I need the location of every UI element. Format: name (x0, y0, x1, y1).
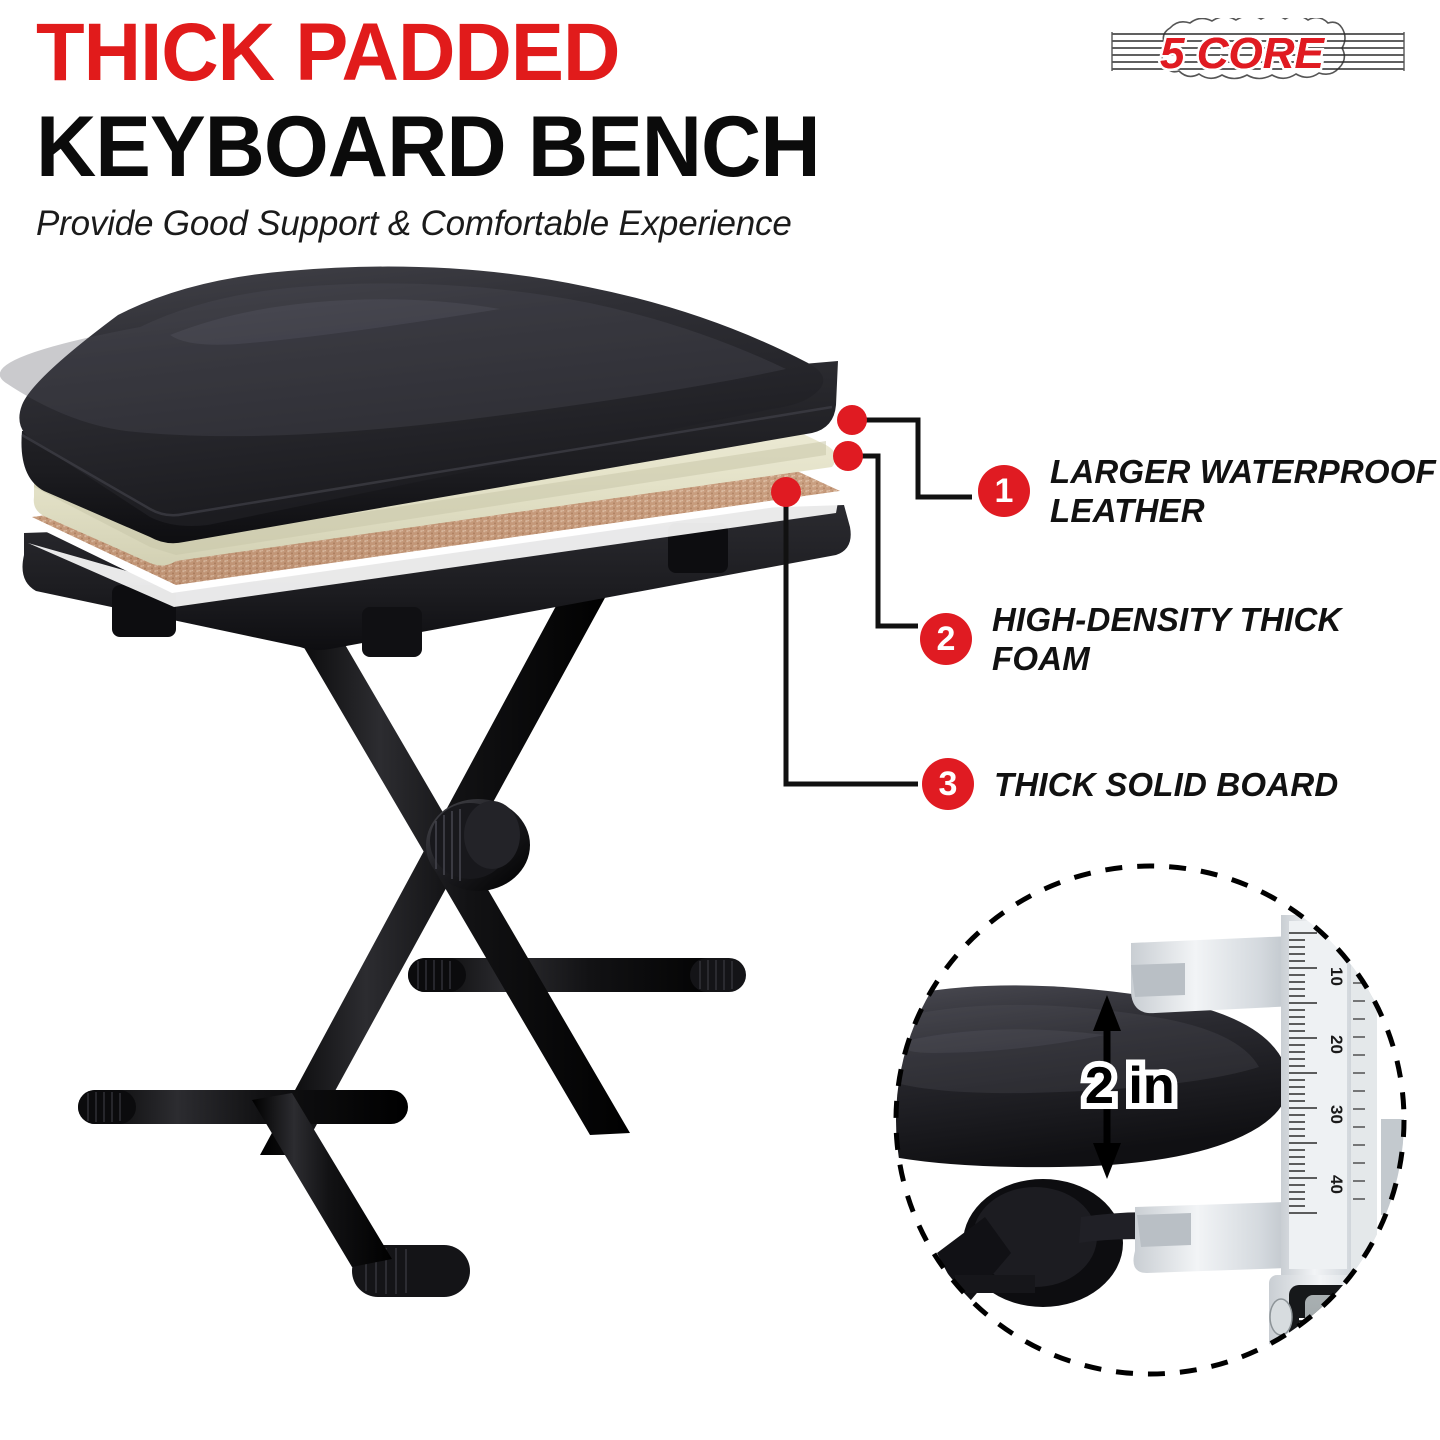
callout-3-number: 3 (922, 758, 974, 810)
inset-content: 0 10 20 30 40 (885, 855, 1415, 1385)
bench-x-frame (78, 580, 746, 1297)
inset-illustration: 0 10 20 30 40 (885, 855, 1415, 1385)
product-image (0, 255, 900, 1375)
keyboard-bench-illustration (0, 255, 900, 1375)
callout-3: 3 THICK SOLID BOARD (922, 758, 1338, 810)
subtitle: Provide Good Support & Comfortable Exper… (36, 204, 792, 244)
ruler-tick-20: 20 (1327, 1035, 1346, 1054)
callout-1-number: 1 (978, 465, 1030, 517)
caliper-off-button-label: OFF (1295, 1379, 1312, 1385)
ruler-tick-30: 30 (1327, 1105, 1346, 1124)
ruler-tick-0: 0 (1327, 935, 1346, 944)
ruler-tick-10: 10 (1327, 967, 1346, 986)
callout-2-label: HIGH-DENSITY THICK FOAM (992, 600, 1422, 678)
callout-1-label: LARGER WATERPROOF LEATHER (1050, 452, 1440, 530)
callout-2-number: 2 (920, 613, 972, 665)
callout-1: 1 LARGER WATERPROOF LEATHER (978, 452, 1440, 530)
five-core-logo-icon: 5 CORE 5 CORE (1108, 18, 1408, 84)
brand-logo: 5 CORE 5 CORE (1108, 18, 1408, 84)
detail-zoom-inset: 0 10 20 30 40 (885, 855, 1415, 1385)
callout-2: 2 HIGH-DENSITY THICK FOAM (920, 600, 1422, 678)
caliper-unit-button-label: inch/mm (1295, 1317, 1312, 1379)
callout-3-label: THICK SOLID BOARD (994, 765, 1338, 804)
logo-wordmark-fill: 5 CORE (1160, 29, 1325, 78)
headline-line-1: THICK PADDED (36, 12, 619, 94)
height-adjust-knob (426, 799, 530, 891)
headline-line-2: KEYBOARD BENCH (36, 104, 820, 190)
measurement-label: 2 in (1085, 1057, 1175, 1115)
ruler-tick-40: 40 (1327, 1175, 1346, 1194)
infographic-canvas: THICK PADDED KEYBOARD BENCH Provide Good… (0, 0, 1440, 1440)
